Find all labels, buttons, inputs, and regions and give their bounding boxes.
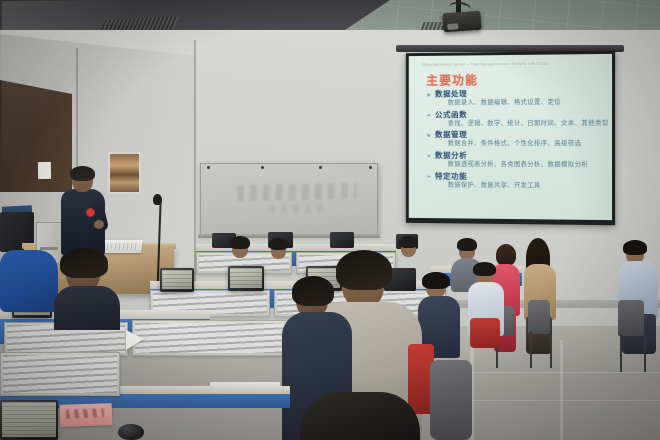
wall-poster [108, 152, 141, 194]
torso [300, 392, 420, 440]
slide-section: 数据分析 数据透视表分析、各类图表分析、数据模拟分析 [424, 151, 606, 170]
classroom-photo: Office Automation Series — Data Manageme… [0, 0, 660, 440]
chair-leg [644, 334, 646, 372]
desk-divider [0, 352, 120, 396]
monitor [0, 400, 58, 440]
presenter [58, 168, 110, 260]
whiteboard-clip [319, 166, 322, 169]
whiteboard-writing [237, 183, 357, 201]
slide-section-heading: 特定功能 [424, 171, 606, 181]
presenter-hair [70, 166, 95, 181]
slide-section: 特定功能 数据保护、数据共享、开发工具 [424, 171, 606, 190]
slide-header-note: Office Automation Series — Data Manageme… [421, 61, 603, 70]
slide-section: 数据处理 数据录入、数据编辑、格式设置、定位 [424, 88, 606, 107]
hair [399, 236, 418, 248]
monitor-screen [162, 270, 192, 289]
slide-section: 公式函数 查找、逻辑、数学、统计、日期时间、文本、其他类型 [424, 109, 606, 128]
projector-icon [442, 11, 481, 33]
slide-section-heading: 数据管理 [424, 130, 606, 140]
hair [457, 238, 477, 251]
chair-red [470, 318, 500, 348]
slide-body: 数据处理 数据录入、数据编辑、格式设置、定位 公式函数 查找、逻辑、数学、统计、… [424, 88, 606, 193]
whiteboard-clip [261, 166, 264, 169]
torso [54, 286, 120, 330]
monitor [228, 266, 264, 291]
hair [422, 272, 450, 289]
chair [528, 300, 550, 334]
whiteboard-clip [369, 166, 372, 169]
hair [336, 250, 392, 290]
chair [430, 360, 472, 440]
slide-section-detail: 数据保护、数据共享、开发工具 [424, 181, 606, 190]
projector-lens-icon [447, 23, 458, 30]
slide-section: 数据管理 数据合并、条件格式、个性化排序、高级筛选 [424, 130, 606, 148]
spreadsheet-rows [162, 270, 192, 289]
keyboard-icon [210, 382, 280, 394]
hair [269, 238, 288, 250]
monitor-screen [230, 268, 262, 288]
spreadsheet-rows [2, 402, 56, 437]
monitor [330, 232, 354, 248]
tower-slot [40, 247, 58, 250]
chair-leg [530, 332, 532, 368]
projection-screen: Office Automation Series — Data Manageme… [409, 54, 612, 220]
chair [618, 300, 644, 336]
pink-label-note [60, 403, 113, 427]
slide-section-detail: 查找、逻辑、数学、统计、日期时间、文本、其他类型 [424, 119, 606, 128]
mouse-icon [118, 424, 144, 440]
whiteboard-writing [269, 204, 325, 213]
folded-paper [126, 330, 144, 350]
presenter-hand [94, 220, 104, 229]
slide-section-heading: 数据处理 [424, 88, 606, 99]
chair-leg [550, 332, 552, 368]
whiteboard [200, 163, 378, 235]
divider-glass [3, 355, 117, 393]
hair [496, 244, 516, 266]
wall-notice-paper [38, 162, 51, 179]
hair [230, 236, 250, 249]
monitor [160, 268, 194, 292]
slide-section-detail: 数据录入、数据编辑、格式设置、定位 [424, 98, 606, 107]
slide-section-detail: 数据合并、条件格式、个性化排序、高级筛选 [424, 140, 606, 148]
chair-leg [620, 334, 622, 372]
whiteboard-clip [207, 166, 210, 169]
floor-tile-line [560, 340, 563, 440]
hair [60, 248, 108, 278]
blue-backpack [0, 250, 58, 312]
monitor-screen [2, 402, 56, 437]
presenter-shirt-logo [86, 208, 95, 217]
microphone-icon [153, 194, 162, 205]
slide-section-heading: 公式函数 [424, 109, 606, 119]
hair [292, 276, 334, 306]
slide-title: 主要功能 [426, 71, 478, 88]
handwritten-text [66, 408, 104, 418]
hair [473, 262, 496, 276]
slide-section-detail: 数据透视表分析、各类图表分析、数据模拟分析 [424, 161, 606, 170]
slide-section-heading: 数据分析 [424, 151, 606, 161]
hair [623, 240, 647, 255]
spreadsheet-rows [230, 268, 262, 288]
